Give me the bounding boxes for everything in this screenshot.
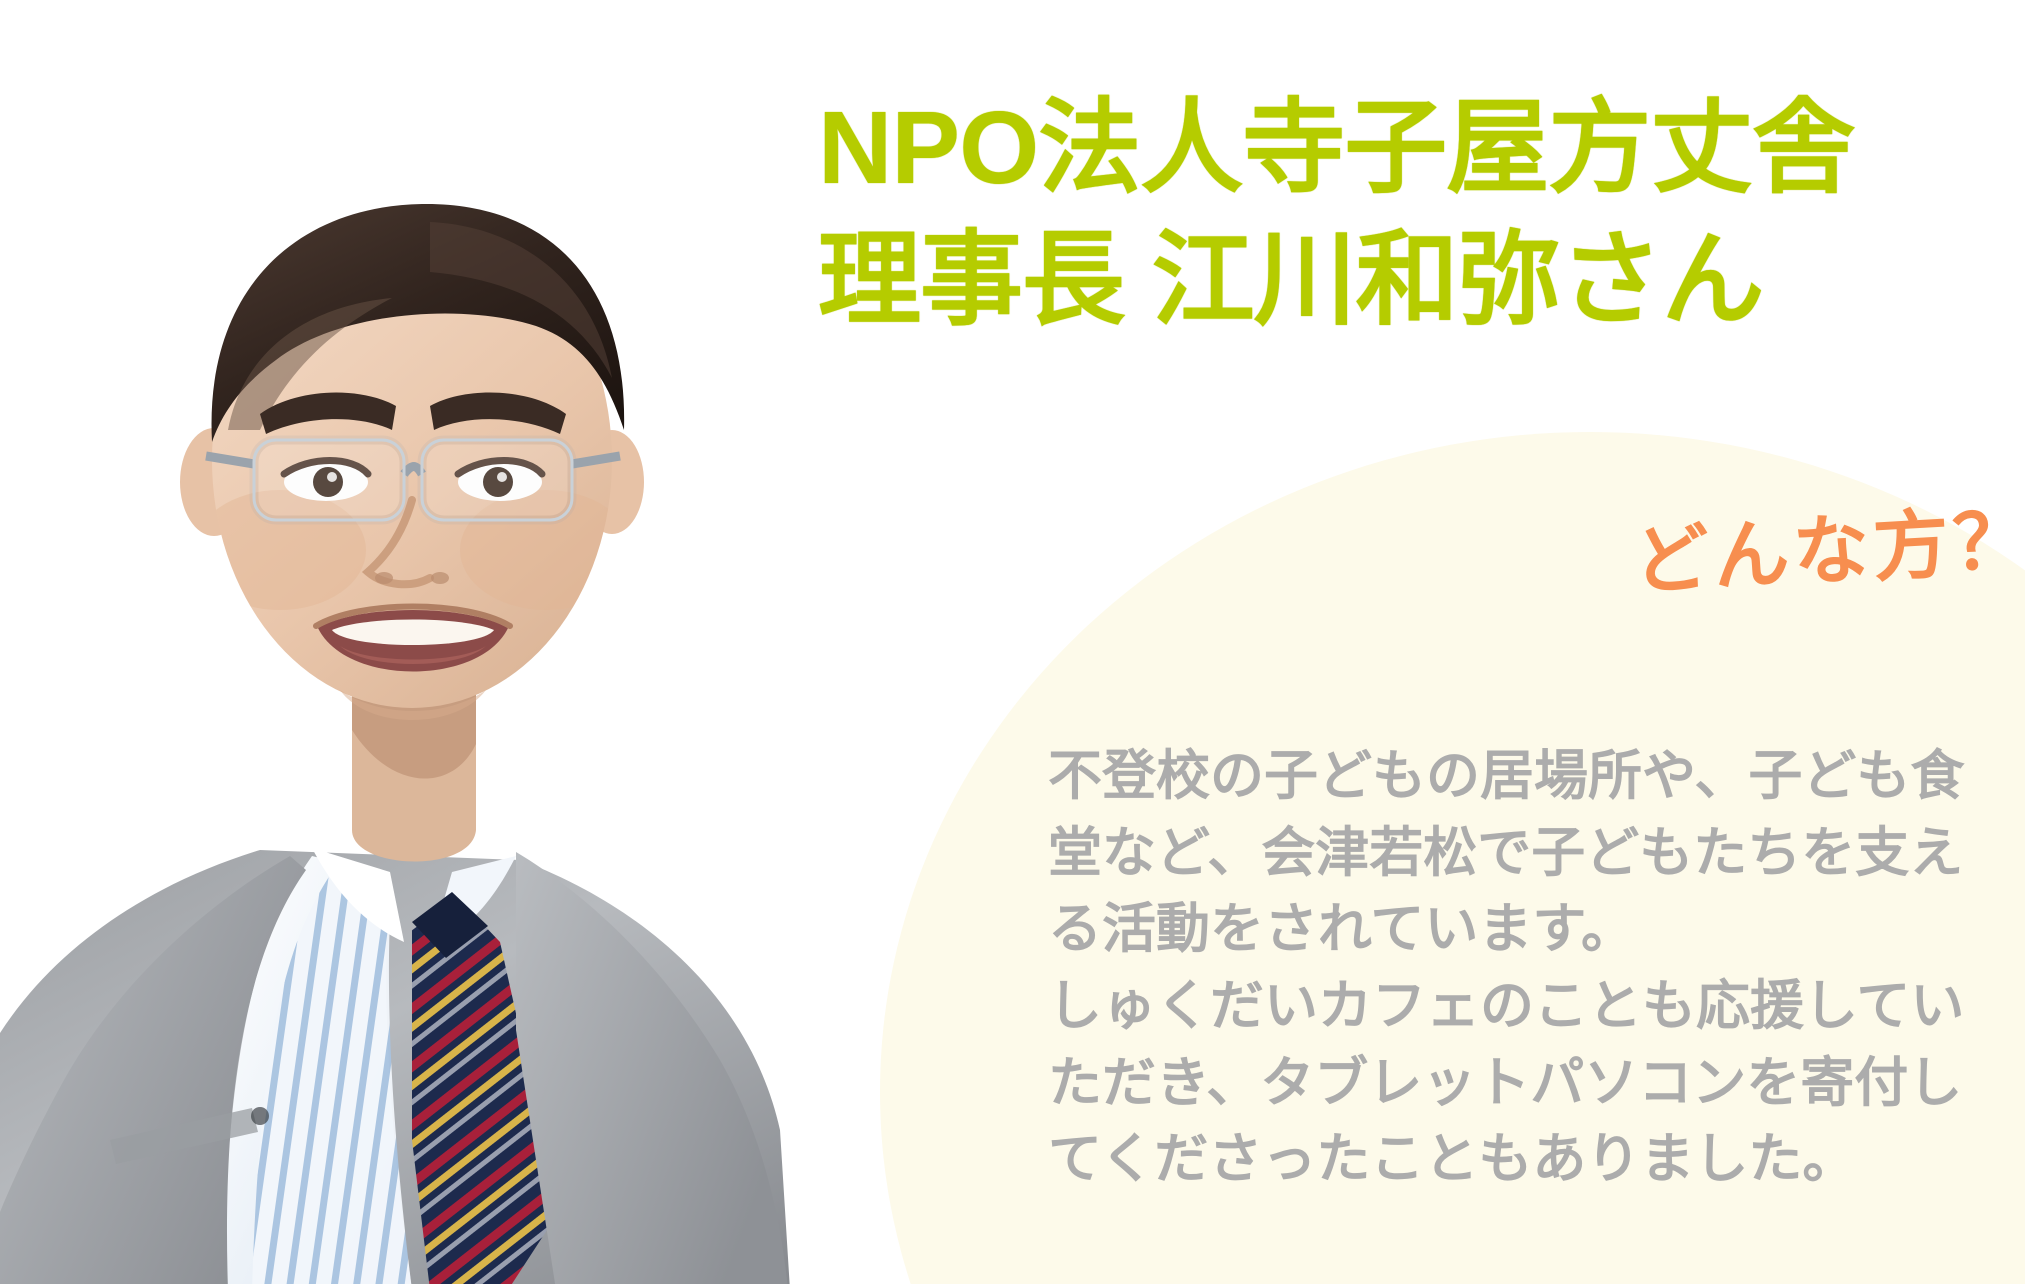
poster-canvas: NPO法人寺子屋方丈舎 理事長 江川和弥さん どんな方？ 不登校の子どもの居場所… (0, 0, 2025, 1284)
body-copy: 不登校の子どもの居場所や、子ども食堂など、会津若松で子どもたちを支える活動をされ… (1048, 738, 1968, 1198)
portrait-photo (0, 130, 960, 1284)
headline: NPO法人寺子屋方丈舎 理事長 江川和弥さん (818, 82, 1854, 346)
headline-line-2: 理事長 江川和弥さん (818, 214, 1854, 346)
question-label: どんな方？ (1630, 478, 2025, 610)
headline-line-1: NPO法人寺子屋方丈舎 (818, 82, 1854, 214)
body-paragraph-1: 不登校の子どもの居場所や、子ども食堂など、会津若松で子どもたちを支える活動をされ… (1048, 738, 1968, 968)
body-paragraph-2: しゅくだいカフェのことも応援していただき、タブレットパソコンを寄付してくださった… (1048, 968, 1968, 1198)
